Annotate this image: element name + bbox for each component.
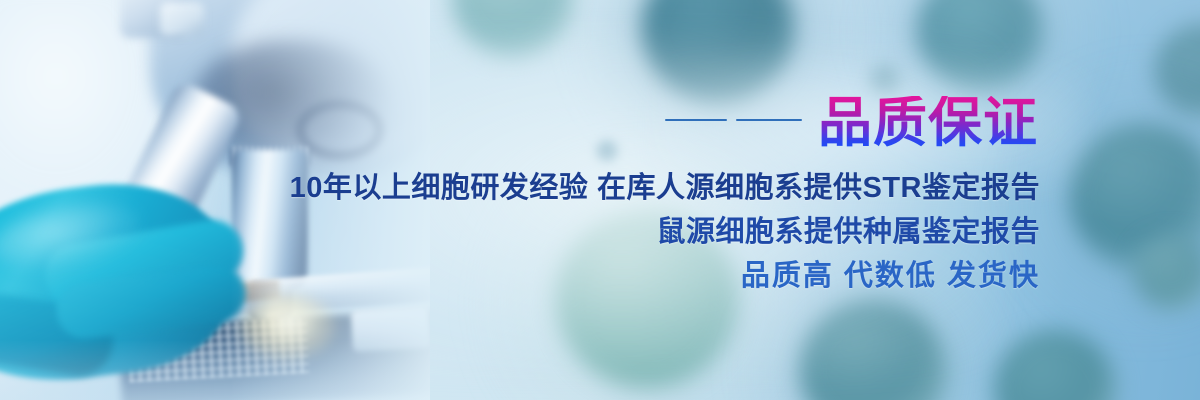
rule-right-icon <box>736 119 802 121</box>
decorative-rules <box>665 119 802 127</box>
tagline-1: 10年以上细胞研发经验 在库人源细胞系提供STR鉴定报告 <box>290 166 1040 210</box>
headline-row: 品质保证 <box>665 96 1038 150</box>
tagline-3: 品质高 代数低 发货快 <box>290 254 1040 298</box>
banner-content: 品质保证 10年以上细胞研发经验 在库人源细胞系提供STR鉴定报告 鼠源细胞系提… <box>0 0 1200 400</box>
rule-left-icon <box>665 119 727 121</box>
tagline-2: 鼠源细胞系提供种属鉴定报告 <box>290 210 1040 254</box>
quality-assurance-banner: 品质保证 10年以上细胞研发经验 在库人源细胞系提供STR鉴定报告 鼠源细胞系提… <box>0 0 1200 400</box>
banner-taglines: 10年以上细胞研发经验 在库人源细胞系提供STR鉴定报告 鼠源细胞系提供种属鉴定… <box>290 166 1040 298</box>
banner-title: 品质保证 <box>818 96 1038 150</box>
